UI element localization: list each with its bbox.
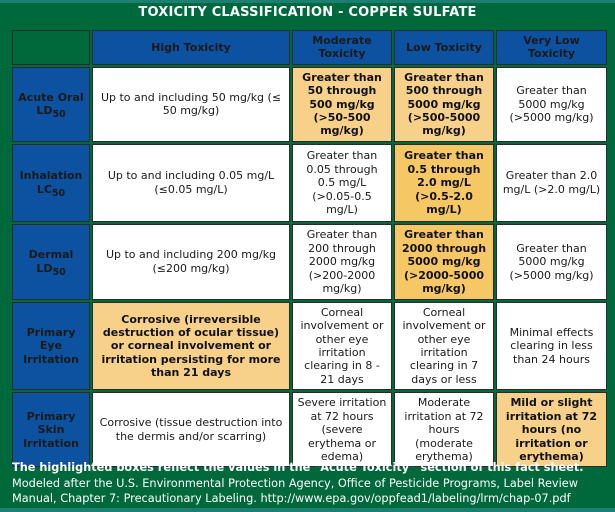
table-row: DermalLD50Up to and including 200 mg/kg … xyxy=(12,224,607,300)
row-header-line-2: LD xyxy=(36,104,52,117)
footer-note: The highlighted boxes reflect the values… xyxy=(12,460,607,507)
toxicity-table-wrapper: High Toxicity Moderate Toxicity Low Toxi… xyxy=(10,28,605,469)
table-body: Acute OralLD50Up to and including 50 mg/… xyxy=(12,67,607,468)
row-header-line-3: Irritation xyxy=(23,353,79,366)
cell-verylow-r2: Greater than 2.0 mg/L (>2.0 mg/L) xyxy=(496,144,607,222)
cell-verylow-r3: Greater than 5000 mg/kg (>5000 mg/kg) xyxy=(496,224,607,300)
table-row: InhalationLC50Up to and including 0.05 m… xyxy=(12,144,607,222)
row-header-inhalation-lc: InhalationLC50 xyxy=(12,144,90,222)
row-header-line-2: LD xyxy=(36,262,52,275)
footer-line-2: Modeled after the U.S. Environmental Pro… xyxy=(12,476,607,492)
cell-moderate-r2: Greater than 0.05 through 0.5 mg/L (>0.0… xyxy=(292,144,392,222)
cell-verylow-r4: Minimal effects clearing in less than 24… xyxy=(496,302,607,390)
cell-moderate-r1: Greater than 50 through 500 mg/kg (>50-5… xyxy=(292,67,392,142)
row-header-acute-oral-ld: Acute OralLD50 xyxy=(12,67,90,142)
row-header-line-1: Primary xyxy=(27,326,76,339)
cell-low-r4: Corneal involvement or other eye irritat… xyxy=(394,302,494,390)
cell-high-r2: Up to and including 0.05 mg/L (≤0.05 mg/… xyxy=(92,144,290,222)
column-header-low-toxicity: Low Toxicity xyxy=(394,30,494,65)
row-header-line-2: LC xyxy=(37,183,52,196)
page-title: TOXICITY CLASSIFICATION - COPPER SULFATE xyxy=(0,5,615,20)
row-header-subscript: 50 xyxy=(52,267,65,278)
toxicity-classification-figure: TOXICITY CLASSIFICATION - COPPER SULFATE… xyxy=(0,0,615,512)
row-header-subscript: 50 xyxy=(52,188,65,199)
cell-verylow-r1: Greater than 5000 mg/kg (>5000 mg/kg) xyxy=(496,67,607,142)
column-header-moderate-toxicity: Moderate Toxicity xyxy=(292,30,392,65)
cell-low-r5: Moderate irritation at 72 hours (moderat… xyxy=(394,392,494,467)
cell-verylow-r5: Mild or slight irritation at 72 hours (n… xyxy=(496,392,607,467)
top-rule-divider xyxy=(0,0,615,3)
column-header-high-toxicity: High Toxicity xyxy=(92,30,290,65)
row-header-line-2: Skin xyxy=(38,423,65,436)
row-header-dermal-ld: DermalLD50 xyxy=(12,224,90,300)
footer-line-1: The highlighted boxes reflect the values… xyxy=(12,460,607,476)
row-header-line-1: Dermal xyxy=(29,248,74,261)
bottom-rule-divider xyxy=(0,508,615,512)
table-header-row: High Toxicity Moderate Toxicity Low Toxi… xyxy=(12,30,607,65)
row-header-line-3: Irritation xyxy=(23,437,79,450)
row-header-primary-eye: PrimaryEyeIrritation xyxy=(12,302,90,390)
row-header-line-1: Inhalation xyxy=(20,169,83,182)
cell-high-r3: Up to and including 200 mg/kg (≤200 mg/k… xyxy=(92,224,290,300)
cell-low-r2: Greater than 0.5 through 2.0 mg/L (>0.5-… xyxy=(394,144,494,222)
table-row: PrimarySkinIrritationCorrosive (tissue d… xyxy=(12,392,607,467)
footer-line-3: Manual, Chapter 7: Precautionary Labelin… xyxy=(12,491,607,507)
table-corner-cell xyxy=(12,30,90,65)
table-row: Acute OralLD50Up to and including 50 mg/… xyxy=(12,67,607,142)
cell-moderate-r4: Corneal involvement or other eye irritat… xyxy=(292,302,392,390)
cell-moderate-r5: Severe irritation at 72 hours (severe er… xyxy=(292,392,392,467)
row-header-subscript: 50 xyxy=(52,109,65,120)
cell-high-r4: Corrosive (irreversible destruction of o… xyxy=(92,302,290,390)
table-row: PrimaryEyeIrritationCorrosive (irreversi… xyxy=(12,302,607,390)
row-header-line-1: Acute Oral xyxy=(18,91,83,104)
row-header-line-2: Eye xyxy=(40,339,62,352)
cell-high-r1: Up to and including 50 mg/kg (≤ 50 mg/kg… xyxy=(92,67,290,142)
toxicity-table: High Toxicity Moderate Toxicity Low Toxi… xyxy=(10,28,609,469)
cell-low-r3: Greater than 2000 through 5000 mg/kg (>2… xyxy=(394,224,494,300)
cell-low-r1: Greater than 500 through 5000 mg/kg (>50… xyxy=(394,67,494,142)
cell-high-r5: Corrosive (tissue destruction into the d… xyxy=(92,392,290,467)
row-header-primary-skin: PrimarySkinIrritation xyxy=(12,392,90,467)
column-header-very-low-toxicity: Very Low Toxicity xyxy=(496,30,607,65)
cell-moderate-r3: Greater than 200 through 2000 mg/kg (>20… xyxy=(292,224,392,300)
row-header-line-1: Primary xyxy=(27,410,76,423)
